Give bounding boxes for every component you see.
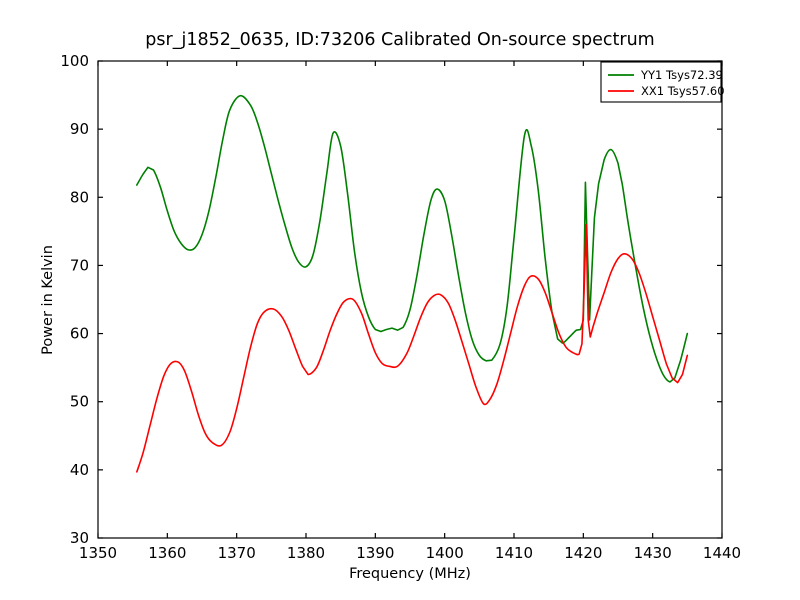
x-tick-label: 1390 [356,544,394,562]
y-tick-label: 60 [70,325,89,343]
x-tick-label: 1360 [148,544,186,562]
legend-label-xx1: XX1 Tsys57.60 [641,84,725,98]
axes-frame [98,61,722,538]
legend[interactable]: YY1 Tsys72.39 XX1 Tsys57.60 [601,62,725,102]
x-axis-label: Frequency (MHz) [349,566,471,582]
x-tick-label: 1410 [495,544,533,562]
y-tick-label: 40 [70,461,89,479]
plot-axes: 1350136013701380139014001410142014301440… [0,0,800,600]
data-series-xx1 [137,225,688,472]
y-tick-label: 50 [70,393,89,411]
y-axis-ticks: 30405060708090100 [60,52,722,547]
y-tick-label: 70 [70,256,89,274]
x-tick-label: 1400 [426,544,464,562]
x-tick-label: 1380 [287,544,325,562]
data-series-group [137,96,688,472]
y-tick-label: 100 [60,52,89,70]
x-tick-label: 1370 [218,544,256,562]
y-tick-label: 80 [70,188,89,206]
x-tick-label: 1420 [564,544,602,562]
y-axis-label: Power in Kelvin [40,245,56,355]
legend-label-yy1: YY1 Tsys72.39 [640,68,723,82]
x-tick-label: 1430 [634,544,672,562]
x-tick-label: 1440 [703,544,741,562]
y-tick-label: 90 [70,120,89,138]
y-tick-label: 30 [70,529,89,547]
figure-canvas: psr_j1852_0635, ID:73206 Calibrated On-s… [0,0,800,600]
